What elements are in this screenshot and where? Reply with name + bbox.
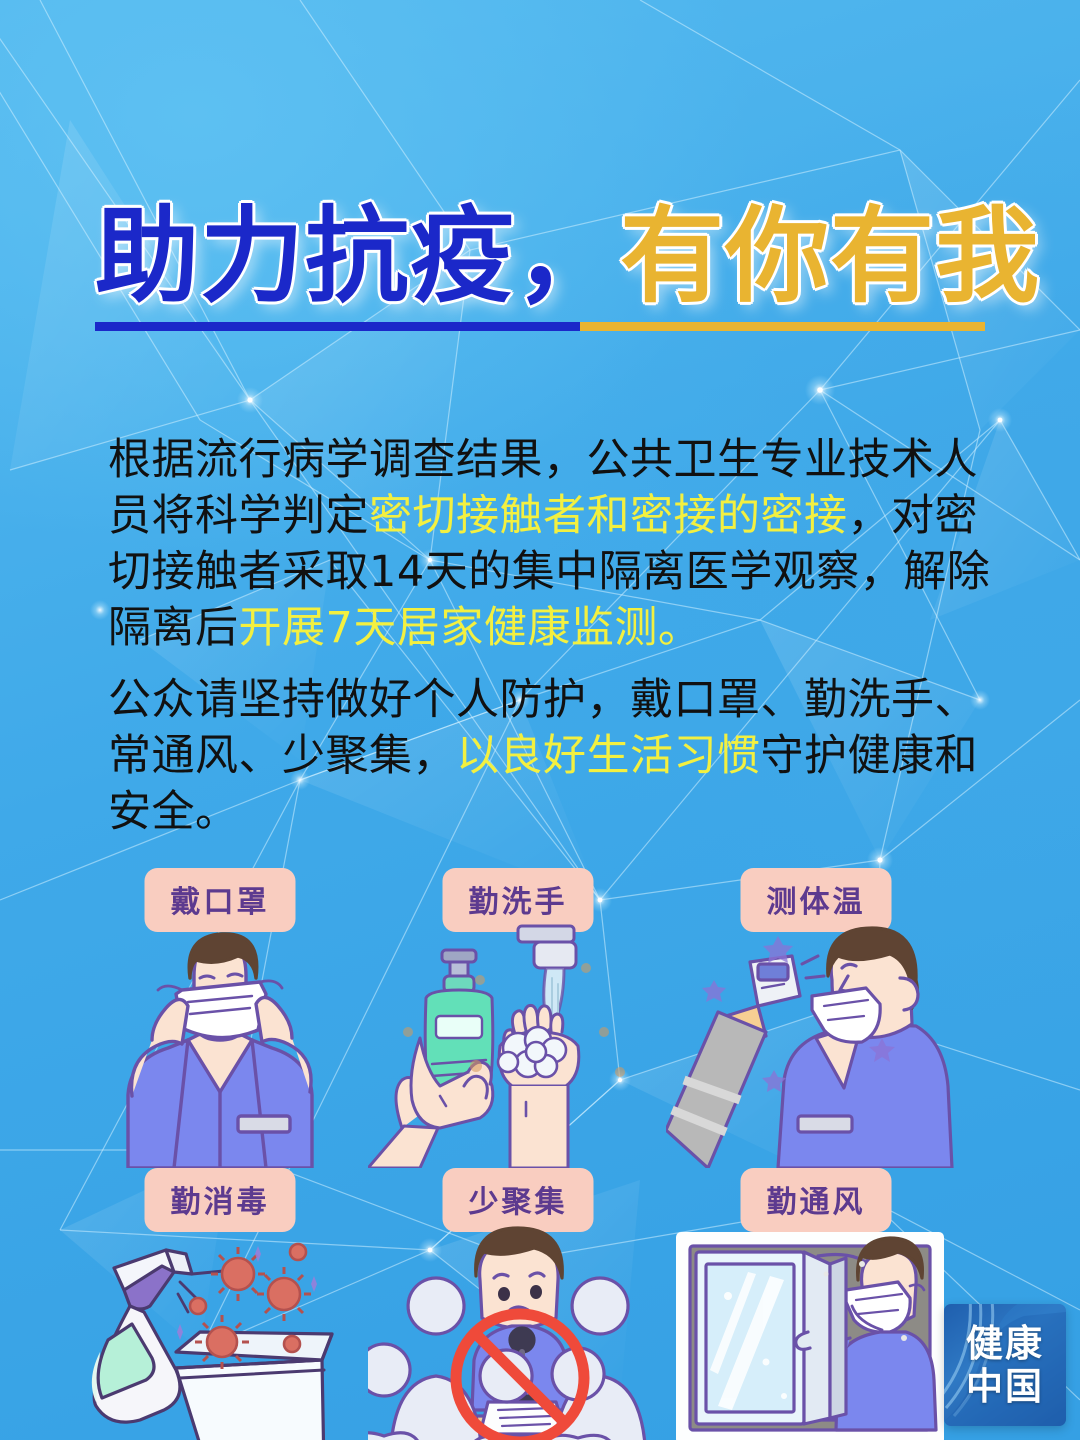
logo-text: 健康 中国 bbox=[944, 1304, 1066, 1426]
title-underline-gold bbox=[580, 322, 985, 331]
measure-card-disinfect[interactable]: 勤消毒 bbox=[70, 1168, 370, 1440]
title-part-one: 助力抗疫， bbox=[95, 195, 620, 317]
handwashing-soap-faucet-icon bbox=[368, 920, 668, 1168]
prevention-measures-grid: 戴口罩 bbox=[0, 868, 1080, 1440]
measure-card-mask[interactable]: 戴口罩 bbox=[70, 868, 370, 1168]
poster-canvas: 助力抗疫，有你有我 根据流行病学调查结果，公共卫生专业技术人员将科学判定密切接触… bbox=[0, 0, 1080, 1440]
measure-card-handwash[interactable]: 勤洗手 bbox=[368, 868, 668, 1168]
body-paragraph-2: 公众请坚持做好个人防护，戴口罩、勤洗手、常通风、少聚集，以良好生活习惯守护健康和… bbox=[108, 672, 992, 840]
logo-line-2: 中国 bbox=[966, 1366, 1044, 1407]
person-wearing-mask-icon bbox=[70, 920, 370, 1168]
measure-card-no-gathering[interactable]: 少聚集 bbox=[368, 1168, 668, 1440]
measure-card-temperature[interactable]: 测体温 bbox=[666, 868, 966, 1168]
paragraph-1-segment-2: 密切接触者和密接的密接 bbox=[369, 491, 848, 541]
healthy-china-logo: 健康 中国 bbox=[944, 1304, 1066, 1426]
body-paragraph-1: 根据流行病学调查结果，公共卫生专业技术人员将科学判定密切接触者和密接的密接，对密… bbox=[108, 432, 992, 656]
open-window-ventilation-icon bbox=[666, 1220, 966, 1440]
logo-line-1: 健康 bbox=[966, 1323, 1044, 1364]
measures-row-top: 戴口罩 bbox=[0, 868, 1080, 1168]
forehead-thermometer-icon bbox=[666, 920, 966, 1168]
title-underline-blue bbox=[95, 322, 580, 331]
measures-row-bottom: 勤消毒 bbox=[0, 1168, 1080, 1440]
measure-card-ventilation[interactable]: 勤通风 bbox=[666, 1168, 966, 1440]
paragraph-1-segment-4: 开展7天居家健康监测。 bbox=[239, 603, 702, 653]
poster-title: 助力抗疫，有你有我 bbox=[95, 196, 995, 331]
spray-bottle-disinfect-table-icon bbox=[70, 1220, 370, 1440]
paragraph-2-segment-2: 以良好生活习惯 bbox=[456, 731, 761, 781]
title-part-two: 有你有我 bbox=[620, 195, 1040, 317]
no-gathering-prohibited-icon bbox=[368, 1220, 668, 1440]
